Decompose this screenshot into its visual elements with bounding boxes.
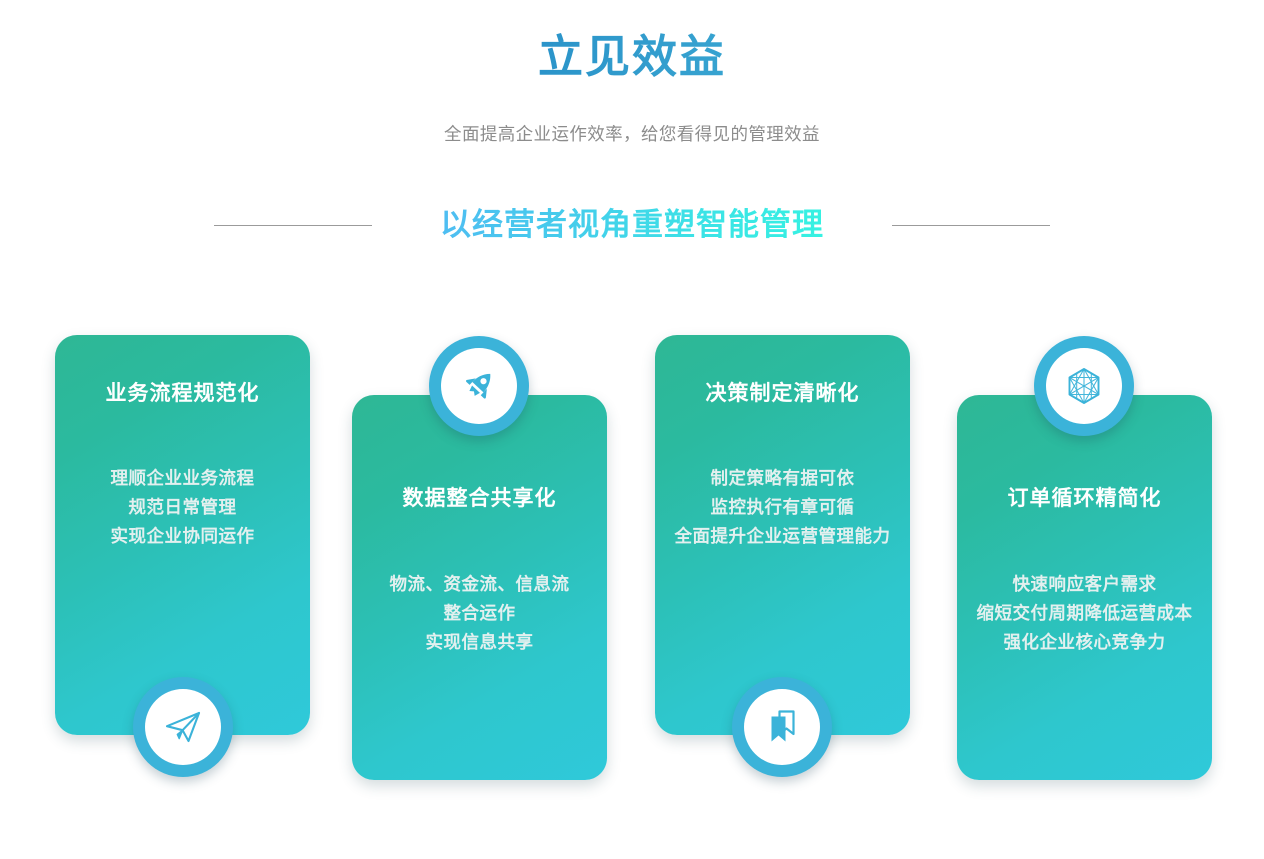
feature-card-business-process[interactable]: 业务流程规范化 理顺企业业务流程规范日常管理实现企业协同运作 [55,335,310,735]
network-hexagon-icon-badge[interactable] [1034,336,1134,436]
feature-card-order-cycle[interactable]: 订单循环精简化 快速响应客户需求缩短交付周期降低运营成本强化企业核心竞争力 [957,395,1212,780]
section-rule-right [892,225,1050,226]
badge-inner-circle [441,348,517,424]
card-title: 数据整合共享化 [352,484,607,514]
badge-inner-circle [145,689,221,765]
section-rule-left [214,225,372,226]
section-title: 以经营者视角重塑智能管理 [440,202,824,248]
badge-inner-circle [1046,348,1122,424]
rocket-icon-badge[interactable] [429,336,529,436]
rocket-icon [458,365,500,407]
bookmark-icon-badge[interactable] [732,677,832,777]
page-subtitle: 全面提高企业运作效率，给您看得见的管理效益 [0,120,1264,148]
paper-plane-icon-badge[interactable] [133,677,233,777]
network-hexagon-icon [1062,364,1106,408]
card-title: 订单循环精简化 [957,484,1212,514]
card-body: 制定策略有据可依监控执行有章可循全面提升企业运营管理能力 [665,464,900,551]
card-body: 快速响应客户需求缩短交付周期降低运营成本强化企业核心竞争力 [967,570,1202,657]
bookmark-icon [762,706,802,748]
card-title: 决策制定清晰化 [655,379,910,409]
page-title: 立见效益 [0,28,1264,86]
card-body: 物流、资金流、信息流整合运作实现信息共享 [362,570,597,657]
badge-inner-circle [744,689,820,765]
section-heading: 以经营者视角重塑智能管理 [0,200,1264,250]
card-body: 理顺企业业务流程规范日常管理实现企业协同运作 [65,464,300,551]
feature-card-decision-making[interactable]: 决策制定清晰化 制定策略有据可依监控执行有章可循全面提升企业运营管理能力 [655,335,910,735]
feature-card-data-integration[interactable]: 数据整合共享化 物流、资金流、信息流整合运作实现信息共享 [352,395,607,780]
paper-plane-icon [163,707,203,747]
card-title: 业务流程规范化 [55,379,310,409]
